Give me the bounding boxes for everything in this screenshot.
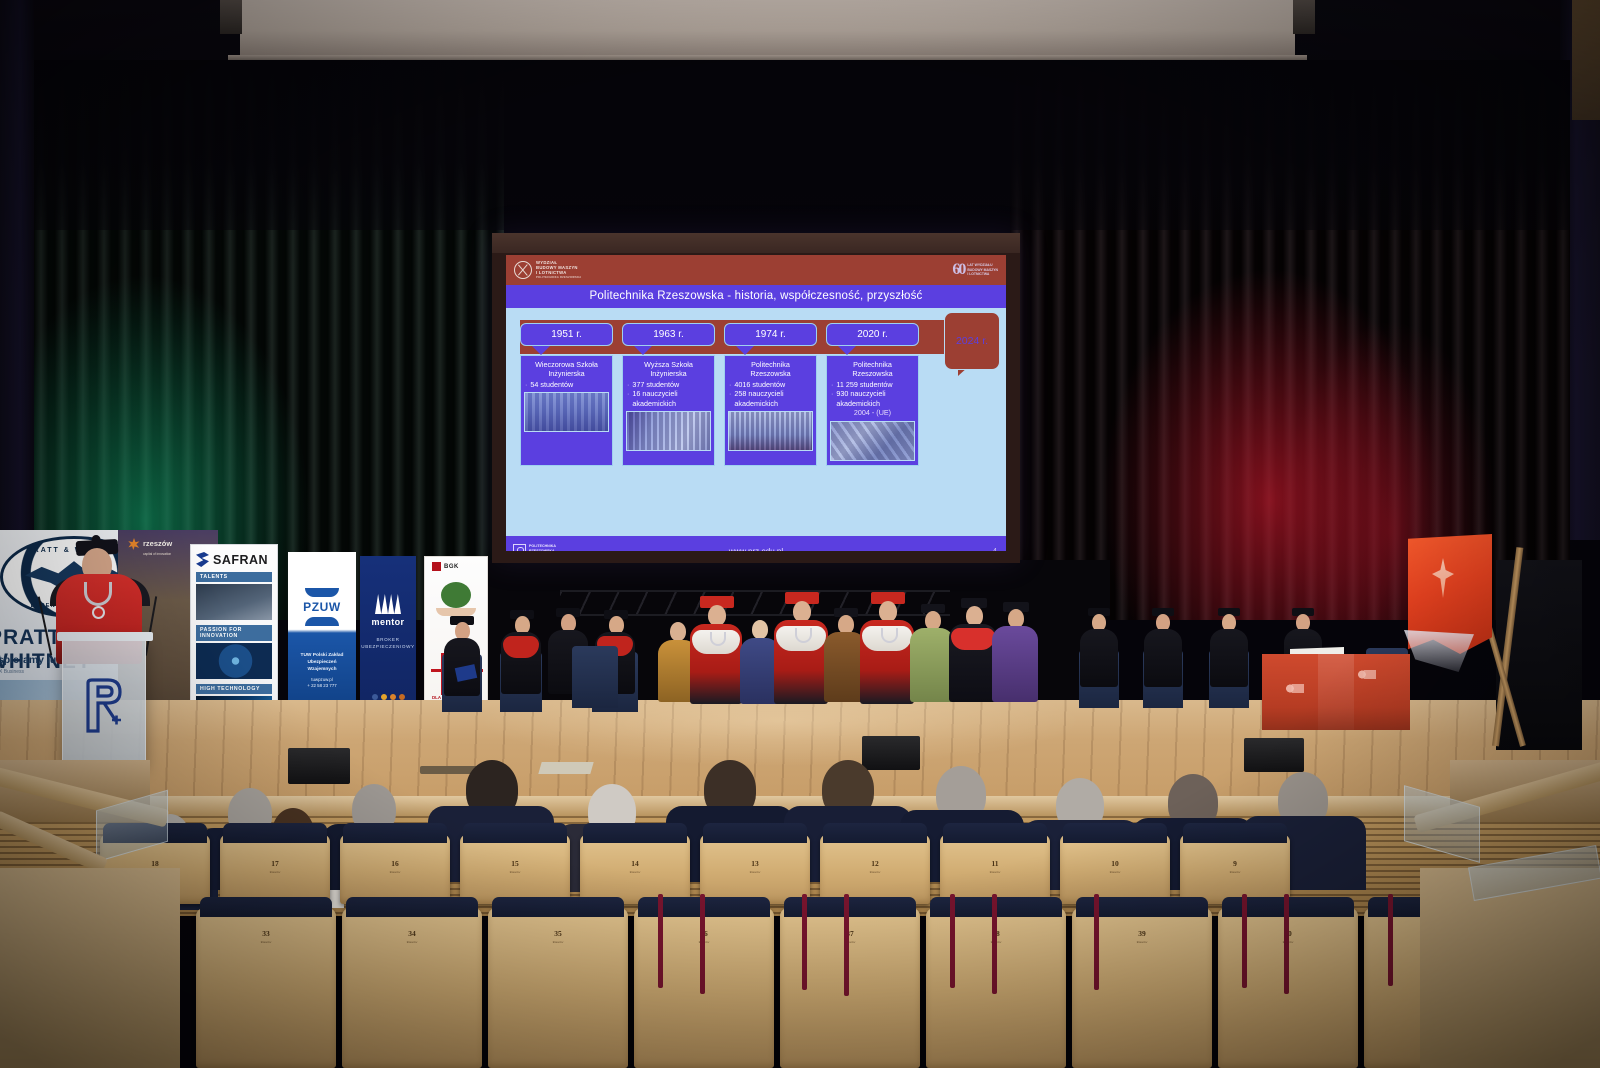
head — [752, 620, 768, 639]
card-bullet-text: 4016 studentów — [734, 380, 785, 389]
bullet-dot: · — [627, 380, 629, 389]
bullet-dot: · — [525, 380, 527, 389]
card-bullet-text: 377 studentów — [632, 380, 679, 389]
seat-cushion — [583, 823, 686, 843]
card-bullet-text: 258 nauczycieli akademickich — [734, 389, 813, 408]
seat-ribbon — [1094, 894, 1099, 990]
card-title-line-1: Politechnika — [728, 360, 813, 369]
propeller-icon — [514, 261, 532, 279]
timeline-notch — [826, 346, 919, 355]
pzuw-wordmark: PZUW — [288, 600, 356, 614]
bgk-square-icon — [432, 562, 441, 571]
screen-top-valance — [492, 233, 1020, 253]
empty-chair[interactable] — [572, 646, 618, 708]
slide-title: Politechnika Rzeszowska - historia, wspó… — [506, 285, 1006, 308]
timeline-notch — [520, 346, 613, 355]
seat-cushion — [1063, 823, 1166, 843]
safran-photo-team — [196, 584, 272, 620]
timeline-year-1951: 1951 r. — [520, 323, 613, 346]
pzuw-logo: PZUW — [288, 588, 356, 626]
rzeszow-wordmark: rzeszów — [143, 540, 172, 548]
card-title: Politechnika Rzeszowska — [728, 360, 813, 378]
seat-ribbon — [992, 894, 997, 994]
academic-person — [992, 600, 1038, 728]
rector-person — [858, 592, 916, 732]
academic-person — [440, 610, 484, 720]
seat-17[interactable]: 17Rzeszów — [220, 834, 330, 904]
seat-cushion — [492, 897, 624, 917]
seat-cushion — [346, 897, 478, 917]
bullet-dot: · — [831, 380, 833, 389]
seat-16[interactable]: 16Rzeszów — [340, 834, 450, 904]
beam-bracket-right — [1293, 0, 1315, 34]
standard-fringe — [1404, 630, 1474, 672]
safran-mark-icon — [196, 552, 209, 567]
stage-curtain-top — [34, 60, 1570, 230]
pzuw-arc-bottom-icon — [305, 617, 339, 626]
seat-37[interactable]: 37Rzeszów — [780, 908, 920, 1068]
seat-number: 35Rzeszów — [553, 930, 564, 946]
anniversary-line-3: I LOTNICTWA — [967, 272, 998, 276]
university-logo: POLITECHNIKA RZESZOWSKA IM. IGNACEGO ŁUK… — [513, 544, 565, 552]
card-title-line-1: Politechnika — [830, 360, 915, 369]
ceiling-beam — [240, 0, 1295, 58]
head — [708, 605, 726, 626]
card-title-line-2: Rzeszowska — [728, 369, 813, 378]
seat-number: 33Rzeszów — [261, 930, 272, 946]
safran-wordmark: SAFRAN — [213, 553, 268, 567]
pw-sub-1: A RTX Business — [0, 669, 24, 675]
faculty-logo-text: WYDZIAŁ BUDOWY MASZYN I LOTNICTWA POLITE… — [536, 260, 581, 281]
seat-33[interactable]: 33Rzeszów — [196, 908, 336, 1068]
seat-ribbon — [844, 894, 849, 996]
academic-person — [1142, 604, 1184, 716]
seat-ribbon — [700, 894, 705, 994]
card-bullet: ·930 nauczycieli akademickich — [830, 389, 915, 408]
seat-15[interactable]: 15Rzeszów — [460, 834, 570, 904]
timeline-card-1963: Wyższa Szkoła Inżynierska ·377 studentów… — [622, 355, 715, 466]
aisle-glass-panel-right — [1404, 785, 1480, 863]
faculty-line-4: POLITECHNIKA RZESZOWSKA — [536, 275, 581, 280]
aisle-wall-left — [0, 868, 180, 1068]
seat-39[interactable]: 39Rzeszów — [1072, 908, 1212, 1068]
seat-number: 16Rzeszów — [390, 860, 401, 876]
seat-cushion — [223, 823, 326, 843]
rzeszow-tagline: capital of innovation — [143, 552, 171, 556]
timeline-card-1974: Politechnika Rzeszowska ·4016 studentów … — [724, 355, 817, 466]
black-robe — [1080, 629, 1118, 687]
audience-area: 18Rzeszów 17Rzeszów 16Rzeszów 15Rzeszów … — [0, 760, 1600, 1068]
seat-14[interactable]: 14Rzeszów — [580, 834, 690, 904]
card-title-line-2: Rzeszowska — [830, 369, 915, 378]
aisle-wall-right — [1420, 868, 1600, 1068]
table-logo-right — [1358, 670, 1376, 679]
lectern — [62, 638, 146, 766]
logo-line-2: RZESZOWSKA — [529, 549, 565, 551]
card-bullet: ·258 nauczycieli akademickich — [728, 389, 813, 408]
sun-icon — [128, 538, 140, 550]
red-cape — [503, 636, 539, 658]
seat-number: 39Rzeszów — [1137, 930, 1148, 946]
seat-number: 12Rzeszów — [870, 860, 881, 876]
seat-cushion — [943, 823, 1046, 843]
head — [670, 622, 686, 641]
anniversary-text: LAT WYDZIAŁU BUDOWY MASZYN I LOTNICTWA — [967, 263, 998, 276]
rzeszow-logo: rzeszów — [128, 538, 172, 550]
card-title-line-2: Inżynierska — [626, 369, 711, 378]
card-title: Politechnika Rzeszowska — [830, 360, 915, 378]
seat-number: 10Rzeszów — [1110, 860, 1121, 876]
auditorium-scene: WYDZIAŁ BUDOWY MASZYN I LOTNICTWA POLITE… — [0, 0, 1600, 1068]
card-title: Wyższa Szkoła Inżynierska — [626, 360, 711, 378]
timeline-year-1974: 1974 r. — [724, 323, 817, 346]
timeline-year-1963: 1963 r. — [622, 323, 715, 346]
red-cape — [951, 628, 995, 650]
seat-number: 11Rzeszów — [990, 860, 1001, 876]
table-logo-left — [1286, 684, 1304, 693]
timeline-card-1951: Wieczorowa Szkoła Inżynierska ·54 studen… — [520, 355, 613, 466]
rector-person — [688, 596, 744, 732]
seat-cushion — [703, 823, 806, 843]
lectern-top — [57, 632, 153, 641]
timeline-year-2020: 2020 r. — [826, 323, 919, 346]
campus-building-photo-1963 — [626, 411, 711, 451]
timeline-notch — [724, 346, 817, 355]
projection-screen: WYDZIAŁ BUDOWY MASZYN I LOTNICTWA POLITE… — [492, 233, 1020, 563]
seat-13[interactable]: 13Rzeszów — [700, 834, 810, 904]
beam-bracket-left — [220, 0, 242, 34]
purple-robe — [992, 626, 1038, 702]
pzuw-line-1: TUW Polski Zakład — [301, 653, 344, 658]
university-logo-text: POLITECHNIKA RZESZOWSKA IM. IGNACEGO ŁUK… — [529, 544, 565, 551]
seat-36[interactable]: 36Rzeszów — [634, 908, 774, 1068]
seat-cushion — [463, 823, 566, 843]
mentor-subtitle: BROKER UBEZPIECZENIOWY — [360, 637, 416, 650]
card-bullet-text: 54 studentów — [530, 380, 573, 389]
card-bullet-text: 930 nauczycieli akademickich — [836, 389, 915, 408]
academic-person — [948, 598, 998, 730]
card-bullet-text: 16 nauczycieli akademickich — [632, 389, 711, 408]
card-title: Wieczorowa Szkoła Inżynierska — [524, 360, 609, 378]
slide-footer-url: www.prz.edu.pl — [729, 547, 783, 552]
head — [879, 601, 897, 622]
card-bullet: ·4016 studentów — [728, 380, 813, 389]
black-robe — [1210, 629, 1248, 687]
card-title-line-1: Wieczorowa Szkoła — [524, 360, 609, 369]
seat-number: 9Rzeszów — [1230, 860, 1241, 876]
seat-ribbon — [802, 894, 807, 990]
safran-section-talents: TALENTS — [196, 572, 272, 582]
seat-number: 15Rzeszów — [510, 860, 521, 876]
seat-9[interactable]: 9Rzeszów — [1180, 834, 1290, 904]
card-title-line-2: Inżynierska — [524, 369, 609, 378]
bullet-dot: · — [729, 380, 731, 389]
academic-person — [498, 606, 544, 720]
card-title-line-1: Wyższa Szkoła — [626, 360, 711, 369]
academic-person — [1208, 604, 1250, 716]
wall-right-warm-light — [1572, 0, 1600, 120]
black-robe — [1144, 629, 1182, 687]
seat-35[interactable]: 35Rzeszów — [488, 908, 628, 1068]
presidium-table — [1262, 654, 1410, 730]
timeline-final-year: 2024 r. — [944, 312, 1000, 370]
presentation-slide: WYDZIAŁ BUDOWY MASZYN I LOTNICTWA POLITE… — [506, 255, 1006, 551]
seat-10[interactable]: 10Rzeszów — [1060, 834, 1170, 904]
seat-ribbon — [658, 894, 663, 988]
slide-header: WYDZIAŁ BUDOWY MASZYN I LOTNICTWA POLITE… — [506, 255, 1006, 285]
tree-icon — [441, 582, 471, 608]
anniversary-logo: 60 LAT WYDZIAŁU BUDOWY MASZYN I LOTNICTW… — [952, 261, 998, 279]
faculty-logo: WYDZIAŁ BUDOWY MASZYN I LOTNICTWA POLITE… — [514, 260, 581, 281]
timeline-year-row: 1951 r. 1963 r. 1974 r. 2020 r. — [513, 316, 999, 346]
rector-person — [772, 592, 830, 732]
card-note-2004-ue: 2004 - (UE) — [830, 408, 915, 417]
seat-40[interactable]: 40Rzeszów — [1218, 908, 1358, 1068]
pzuw-line-2: Ubezpieczeń Wzajemnych — [307, 660, 336, 672]
seat-ribbon — [1242, 894, 1247, 988]
card-bullet: ·54 studentów — [524, 380, 609, 389]
seat-number: 34Rzeszów — [407, 930, 418, 946]
card-bullet: ·11 259 studentów — [830, 380, 915, 389]
safran-photo-turbine — [196, 643, 272, 679]
bullet-dot: · — [729, 389, 731, 408]
seat-34[interactable]: 34Rzeszów — [342, 908, 482, 1068]
aisle-rail-left-lower — [0, 810, 108, 873]
politechnika-rzeszowska-monogram — [82, 677, 126, 733]
seat-number: 17Rzeszów — [270, 860, 281, 876]
seat-cushion — [1183, 823, 1286, 843]
mentor-wordmark: mentor — [360, 617, 416, 627]
seat-cushion — [823, 823, 926, 843]
head — [793, 601, 811, 622]
card-bullet: ·377 studentów — [626, 380, 711, 389]
bgk-logo: BGK — [425, 557, 487, 571]
card-bullet-text: 11 259 studentów — [836, 380, 892, 389]
slide-footer: POLITECHNIKA RZESZOWSKA IM. IGNACEGO ŁUK… — [506, 536, 1006, 551]
historic-building-photo-1951 — [524, 392, 609, 432]
slide-number: 4 — [993, 547, 997, 552]
head — [966, 606, 983, 626]
timeline-card-2020: Politechnika Rzeszowska ·11 259 studentó… — [826, 355, 919, 466]
speaker-medal — [92, 606, 105, 619]
bullet-dot: · — [627, 389, 629, 408]
seat-ribbon — [1388, 894, 1393, 986]
timeline-notch-row — [513, 346, 999, 355]
seat-number: 13Rzeszów — [750, 860, 761, 876]
anniversary-number: 60 — [952, 261, 964, 279]
aerial-campus-photo-2020 — [830, 421, 915, 461]
seat-cushion — [200, 897, 332, 917]
pzuw-arc-top-icon — [305, 588, 339, 597]
pzuw-text-block: TUW Polski Zakład Ubezpieczeń Wzajemnych… — [288, 626, 356, 689]
mentor-mark-icon — [375, 594, 401, 614]
safran-section-passion: PASSION FOR INNOVATION — [196, 625, 272, 641]
seat-cushion — [343, 823, 446, 843]
safran-section-hightech: HIGH TECHNOLOGY — [196, 684, 272, 694]
card-bullet: ·16 nauczycieli akademickich — [626, 389, 711, 408]
timeline-notch — [622, 346, 715, 355]
pzuw-line-4: + 22 58 23 777 — [293, 683, 351, 689]
seat-number: 14Rzeszów — [630, 860, 641, 876]
seat-ribbon — [1284, 894, 1289, 994]
bgk-wordmark: BGK — [444, 564, 459, 570]
academic-person — [1078, 604, 1120, 716]
seat-38[interactable]: 38Rzeszów — [926, 908, 1066, 1068]
bullet-dot: · — [831, 389, 833, 408]
prz-monogram-icon — [513, 544, 526, 552]
slide-body: 2024 r. 1951 r. 1963 r. 1974 r. 2020 r. — [506, 308, 1006, 536]
seat-ribbon — [950, 894, 955, 988]
seat-12[interactable]: 12Rzeszów — [820, 834, 930, 904]
timeline-card-row: Wieczorowa Szkoła Inżynierska ·54 studen… — [513, 355, 999, 466]
main-building-photo-1974 — [728, 411, 813, 451]
mentor-line-2: UBEZPIECZENIOWY — [360, 644, 416, 651]
safran-logo: SAFRAN — [196, 552, 272, 567]
